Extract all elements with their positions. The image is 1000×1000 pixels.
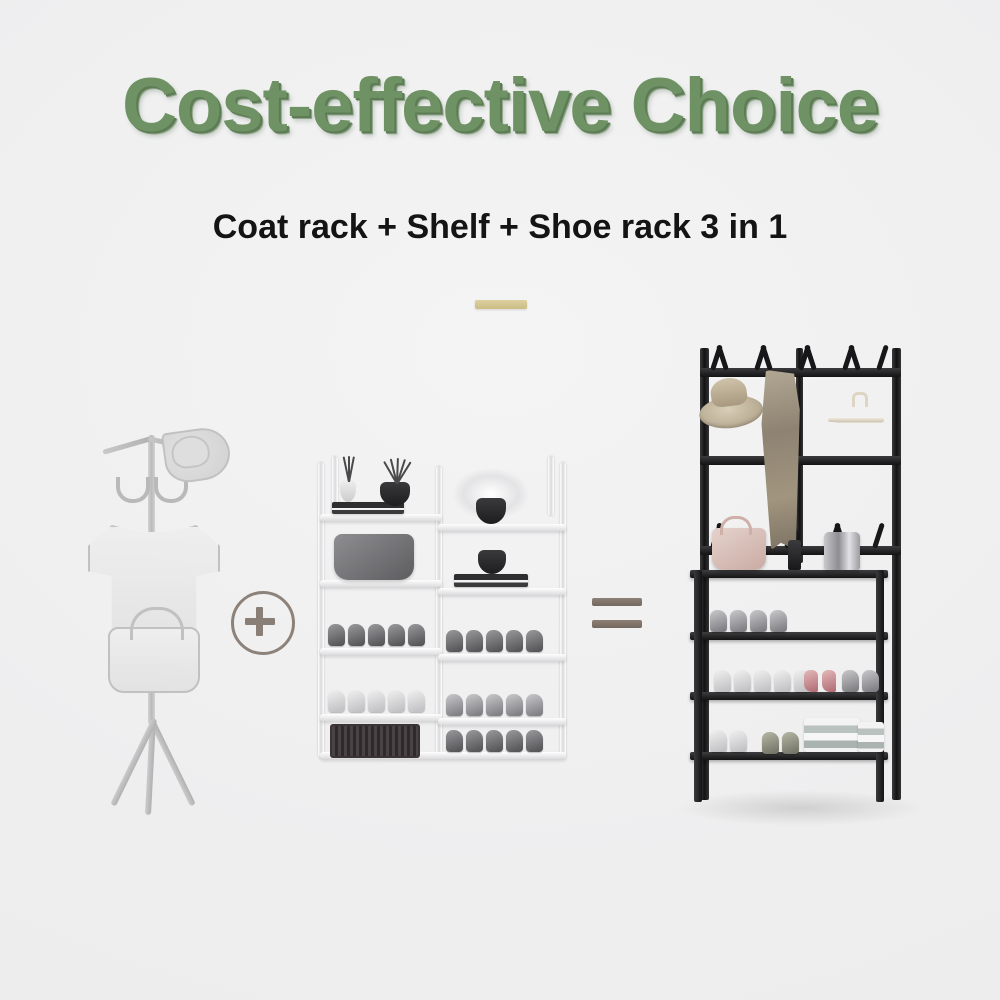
shoe-row — [842, 670, 879, 692]
product-hall-tree — [676, 340, 924, 810]
shelf-board — [320, 580, 442, 587]
clothes-hanger-icon — [828, 398, 884, 424]
folded-towels — [858, 722, 884, 752]
equals-operator — [592, 598, 642, 632]
shoe-row — [714, 670, 811, 692]
shoe-row — [446, 630, 543, 652]
plus-operator — [231, 591, 295, 655]
shelf-board — [438, 654, 566, 661]
page-title: Cost-effective Choice — [0, 62, 1000, 149]
handbag-icon — [334, 534, 414, 580]
shoe-row — [446, 694, 543, 716]
poster-canvas: Cost-effective Choice Coat rack + Shelf … — [0, 0, 1000, 1000]
coat-rack-arm-left — [102, 436, 151, 455]
folded-towels — [804, 718, 860, 752]
shoe-row — [710, 610, 787, 632]
vase-icon — [478, 550, 506, 574]
coat-icon — [758, 370, 802, 550]
shelf-leg-left — [694, 570, 702, 802]
shoe-row — [328, 624, 425, 646]
page-subtitle: Coat rack + Shelf + Shoe rack 3 in 1 — [0, 208, 1000, 247]
high-heel-icon — [804, 670, 818, 692]
hook-rail-middle — [700, 456, 901, 465]
shoe-row — [710, 730, 747, 752]
shoe-row — [762, 732, 799, 754]
shelf-board — [320, 648, 442, 655]
plant-pot — [380, 482, 410, 506]
shoe-row — [446, 730, 543, 752]
shelf-board — [438, 588, 566, 595]
handbag-icon — [712, 528, 766, 570]
shelf-board — [320, 514, 442, 521]
frame-post-right — [892, 348, 901, 800]
product-shoe-shelf — [312, 452, 574, 758]
straw-hat-icon — [695, 374, 765, 431]
product-coat-rack — [78, 415, 228, 815]
plant-stems — [386, 458, 406, 484]
shelf-board — [320, 714, 442, 721]
diffuser-reeds — [340, 458, 356, 482]
handbag-icon — [108, 627, 200, 693]
product-shadow — [676, 790, 924, 826]
figurine-icon — [788, 540, 801, 570]
book-stack — [454, 574, 528, 587]
high-heel-icon — [822, 670, 836, 692]
woven-basket — [330, 724, 420, 758]
shelf-board — [438, 524, 566, 531]
coat-rack-hook — [116, 477, 150, 503]
shelf-board — [690, 632, 888, 640]
shelf-board — [690, 570, 888, 578]
canister-icon — [824, 532, 860, 570]
shoe-row — [328, 690, 425, 712]
hat-icon — [161, 425, 234, 486]
diffuser-bottle — [340, 480, 356, 502]
shelf-board — [690, 692, 888, 700]
title-divider — [475, 300, 527, 309]
shelf-board — [438, 718, 566, 725]
plant-pot — [476, 498, 506, 524]
